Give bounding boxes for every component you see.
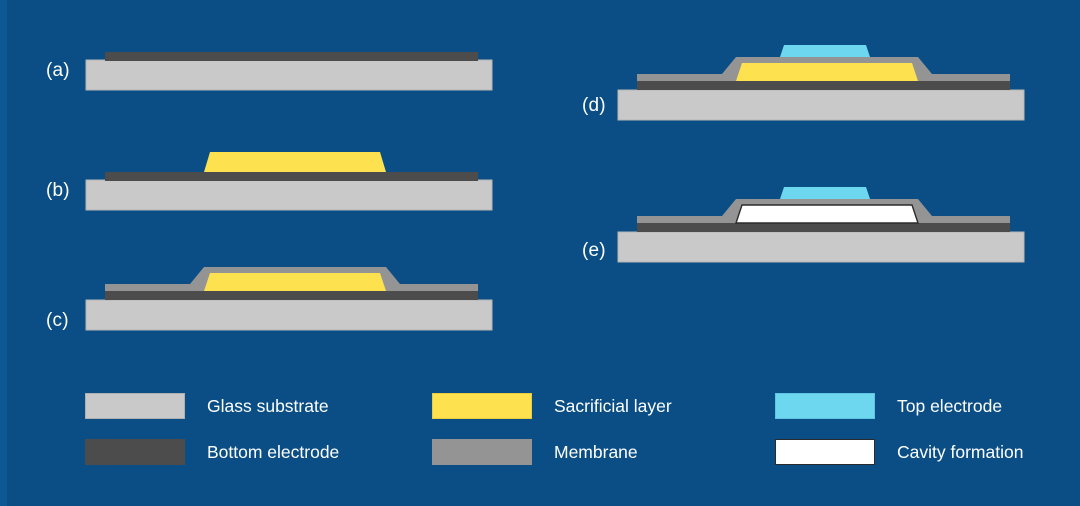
bottom-electrode-b: [105, 172, 478, 181]
legend-swatch-glass-substrate: [85, 393, 185, 419]
legend-item-top-electrode: Top electrode: [775, 393, 1002, 419]
cavity-formation-e: [736, 205, 918, 223]
legend-label-cavity-formation: Cavity formation: [897, 442, 1023, 463]
legend-swatch-bottom-electrode: [85, 439, 185, 465]
panel-a-cross-section: [86, 46, 496, 94]
legend-item-cavity-formation: Cavity formation: [775, 439, 1023, 465]
bottom-electrode-c: [105, 291, 478, 300]
panel-c-cross-section: [86, 262, 496, 334]
legend-label-membrane: Membrane: [554, 442, 638, 463]
sacrificial-layer-b: [204, 152, 386, 172]
panel-b-cross-section: [86, 146, 496, 214]
panel-d-cross-section: [618, 40, 1030, 122]
panel-e-cross-section: [618, 186, 1030, 264]
process-flow-figure: (a) (b) (c) (d) (e) Glass: [0, 0, 1080, 506]
glass-substrate-c: [86, 300, 492, 330]
panel-label-a: (a): [46, 60, 70, 82]
top-electrode-d: [780, 45, 870, 57]
top-electrode-e: [780, 187, 870, 199]
glass-substrate-e: [618, 232, 1024, 262]
bottom-electrode-d: [637, 81, 1010, 90]
legend-swatch-sacrificial-layer: [432, 393, 532, 419]
panel-label-e: (e): [582, 240, 606, 262]
legend-swatch-cavity-formation: [775, 439, 875, 465]
legend-item-bottom-electrode: Bottom electrode: [85, 439, 339, 465]
legend-swatch-top-electrode: [775, 393, 875, 419]
glass-substrate-b: [86, 180, 492, 210]
panel-label-d: (d): [582, 95, 606, 117]
sacrificial-layer-d: [736, 63, 918, 81]
legend-label-glass-substrate: Glass substrate: [207, 396, 329, 417]
sacrificial-layer-c: [204, 273, 386, 291]
panel-label-c: (c): [46, 310, 69, 332]
legend: Glass substrate Bottom electrode Sacrifi…: [0, 380, 1080, 480]
panel-label-b: (b): [46, 180, 70, 202]
legend-item-glass-substrate: Glass substrate: [85, 393, 329, 419]
legend-label-bottom-electrode: Bottom electrode: [207, 442, 339, 463]
legend-label-sacrificial-layer: Sacrificial layer: [554, 396, 672, 417]
legend-swatch-membrane: [432, 439, 532, 465]
glass-substrate-a: [86, 60, 492, 90]
bottom-electrode-e: [637, 223, 1010, 232]
legend-item-membrane: Membrane: [432, 439, 638, 465]
bottom-electrode-a: [105, 52, 478, 61]
legend-item-sacrificial-layer: Sacrificial layer: [432, 393, 672, 419]
legend-label-top-electrode: Top electrode: [897, 396, 1002, 417]
glass-substrate-d: [618, 90, 1024, 120]
